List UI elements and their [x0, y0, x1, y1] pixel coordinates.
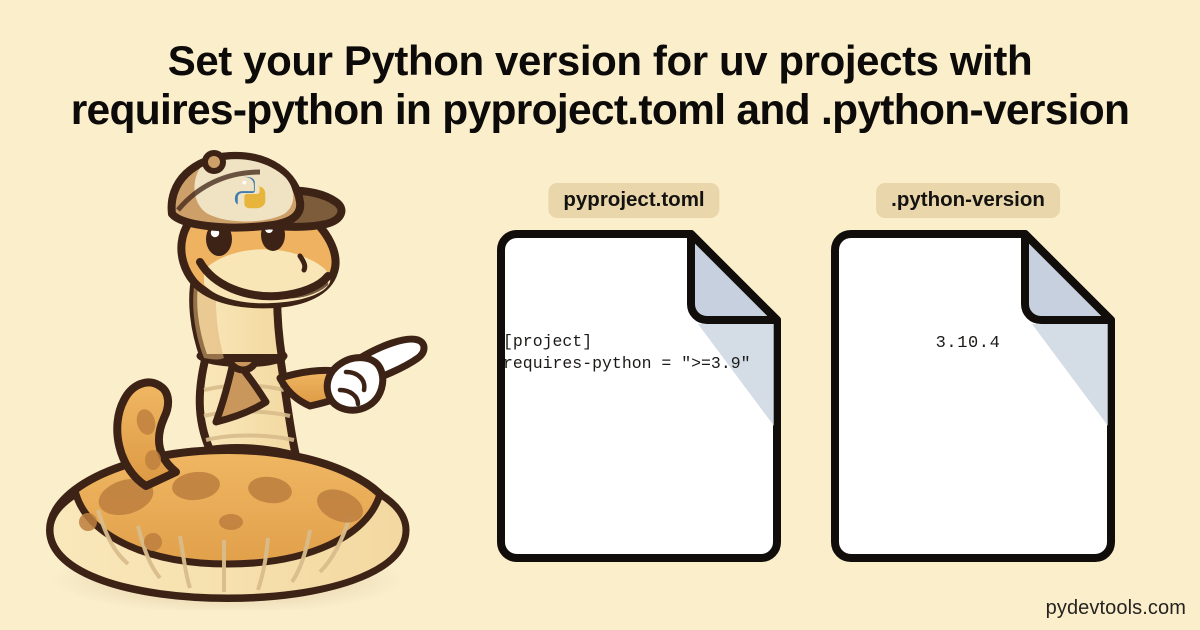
- file-label-pyproject-toml: pyproject.toml: [548, 183, 719, 218]
- site-watermark: pydevtools.com: [1046, 597, 1186, 620]
- page-title-line-1: Set your Python version for uv projects …: [0, 36, 1200, 86]
- pointing-hand-icon: [327, 339, 424, 410]
- document-icon-pyproject-toml: [485, 228, 783, 564]
- python-snake-mascot: [28, 150, 448, 610]
- file-label-python-version: .python-version: [876, 183, 1060, 218]
- social-card: Set your Python version for uv projects …: [0, 0, 1200, 630]
- snake-coil: [50, 450, 406, 598]
- code-text-pyproject-toml: [project] requires-python = ">=3.9": [503, 331, 751, 375]
- code-text-python-version: 3.10.4: [819, 333, 1117, 355]
- baseball-cap: [172, 153, 342, 228]
- document-icon-python-version: [819, 228, 1117, 564]
- page-title: Set your Python version for uv projects …: [0, 36, 1200, 136]
- page-title-line-2: requires-python in pyproject.toml and .p…: [0, 86, 1200, 136]
